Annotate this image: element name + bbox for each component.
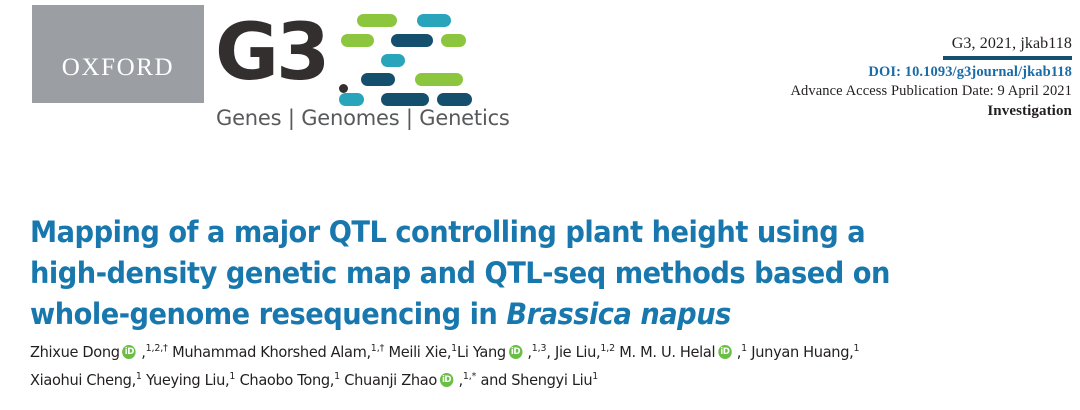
author-affiliation-marker: 1	[136, 371, 142, 382]
article-title: Mapping of a major QTL controlling plant…	[30, 212, 964, 335]
title-species-name: Brassica napus	[506, 297, 731, 331]
author-affiliation-marker: 1,*	[463, 371, 476, 382]
orcid-icon[interactable]	[718, 345, 731, 359]
author-name[interactable]: Chuanji Zhao	[344, 371, 437, 389]
author-line-2: Xiaohui Cheng,1 Yueying Liu,1 Chaobo Ton…	[30, 366, 1009, 394]
author-name[interactable]: Jie Liu	[555, 343, 596, 361]
author-line-1: Zhixue Dong ,1,2,† Muhammad Khorshed Ala…	[30, 338, 1009, 366]
logo-bar-2	[341, 34, 374, 47]
g3-journal-logo: G3 Genes | Genomes | Genetics	[215, 12, 505, 140]
logo-bar-7	[415, 73, 463, 86]
oxford-wordmark: OXFORD	[62, 29, 174, 80]
metadata-divider	[943, 56, 1072, 60]
orcid-icon[interactable]	[440, 373, 453, 387]
masthead: OXFORD G3 Genes | Genomes | Genetics G3,…	[0, 0, 1080, 150]
author-affiliation-marker: 1	[334, 371, 340, 382]
author-name[interactable]: Li Yang	[457, 343, 506, 361]
author-affiliation-marker: 1	[229, 371, 235, 382]
title-line-1: Mapping of a major QTL controlling plant…	[30, 215, 865, 249]
author-affiliation-marker: 1	[592, 371, 598, 382]
author-name[interactable]: Zhixue Dong	[30, 343, 120, 361]
author-affiliation-marker: 1	[741, 343, 747, 354]
author-affiliation-marker: 1	[853, 343, 859, 354]
advance-access-date: Advance Access Publication Date: 9 April…	[790, 82, 1072, 101]
g3-wordmark: G3	[215, 14, 327, 92]
g3-logo-bar-mosaic	[339, 14, 505, 96]
author-name[interactable]: Shengyi Liu	[511, 371, 592, 389]
author-name[interactable]: Yueying Liu	[146, 371, 225, 389]
logo-bar-0	[357, 14, 397, 27]
orcid-icon[interactable]	[509, 345, 522, 359]
author-name[interactable]: Junyan Huang	[751, 343, 849, 361]
author-name[interactable]: Chaobo Tong	[240, 371, 330, 389]
oxford-university-press-logo: OXFORD	[32, 5, 204, 103]
doi-link[interactable]: DOI: 10.1093/g3journal/jkab118	[790, 63, 1072, 82]
title-line-2: high-density genetic map and QTL-seq met…	[30, 256, 890, 290]
g3-tagline: Genes | Genomes | Genetics	[216, 106, 510, 130]
author-name[interactable]: M. M. U. Helal	[619, 343, 715, 361]
author-separator: ,	[454, 371, 463, 389]
citation-line: G3, 2021, jkab118	[790, 34, 1072, 54]
logo-bar-8	[339, 93, 364, 106]
logo-bar-9	[381, 93, 429, 106]
logo-bar-5	[381, 54, 405, 67]
orcid-icon[interactable]	[123, 345, 136, 359]
logo-bar-1	[417, 14, 451, 27]
logo-bar-6	[361, 73, 395, 86]
author-separator: ,	[732, 343, 741, 361]
logo-bar-4	[441, 34, 466, 47]
author-name[interactable]: Xiaohui Cheng	[30, 371, 132, 389]
author-affiliation-marker: 1,3	[532, 343, 547, 354]
article-type-label: Investigation	[790, 101, 1072, 121]
logo-bar-3	[391, 34, 433, 47]
author-affiliation-marker: 1,2	[600, 343, 615, 354]
author-list: Zhixue Dong ,1,2,† Muhammad Khorshed Ala…	[30, 338, 1009, 394]
author-affiliation-marker: 1,†	[371, 343, 384, 354]
author-name[interactable]: Muhammad Khorshed Alam	[172, 343, 366, 361]
title-line-3-prefix: whole-genome resequencing in	[30, 297, 506, 331]
logo-bar-10	[437, 93, 472, 106]
author-separator: ,	[523, 343, 532, 361]
author-affiliation-marker: 1,2,†	[146, 343, 168, 354]
journal-metadata: G3, 2021, jkab118 DOI: 10.1093/g3journal…	[790, 34, 1072, 121]
author-name[interactable]: Meili Xie	[389, 343, 447, 361]
